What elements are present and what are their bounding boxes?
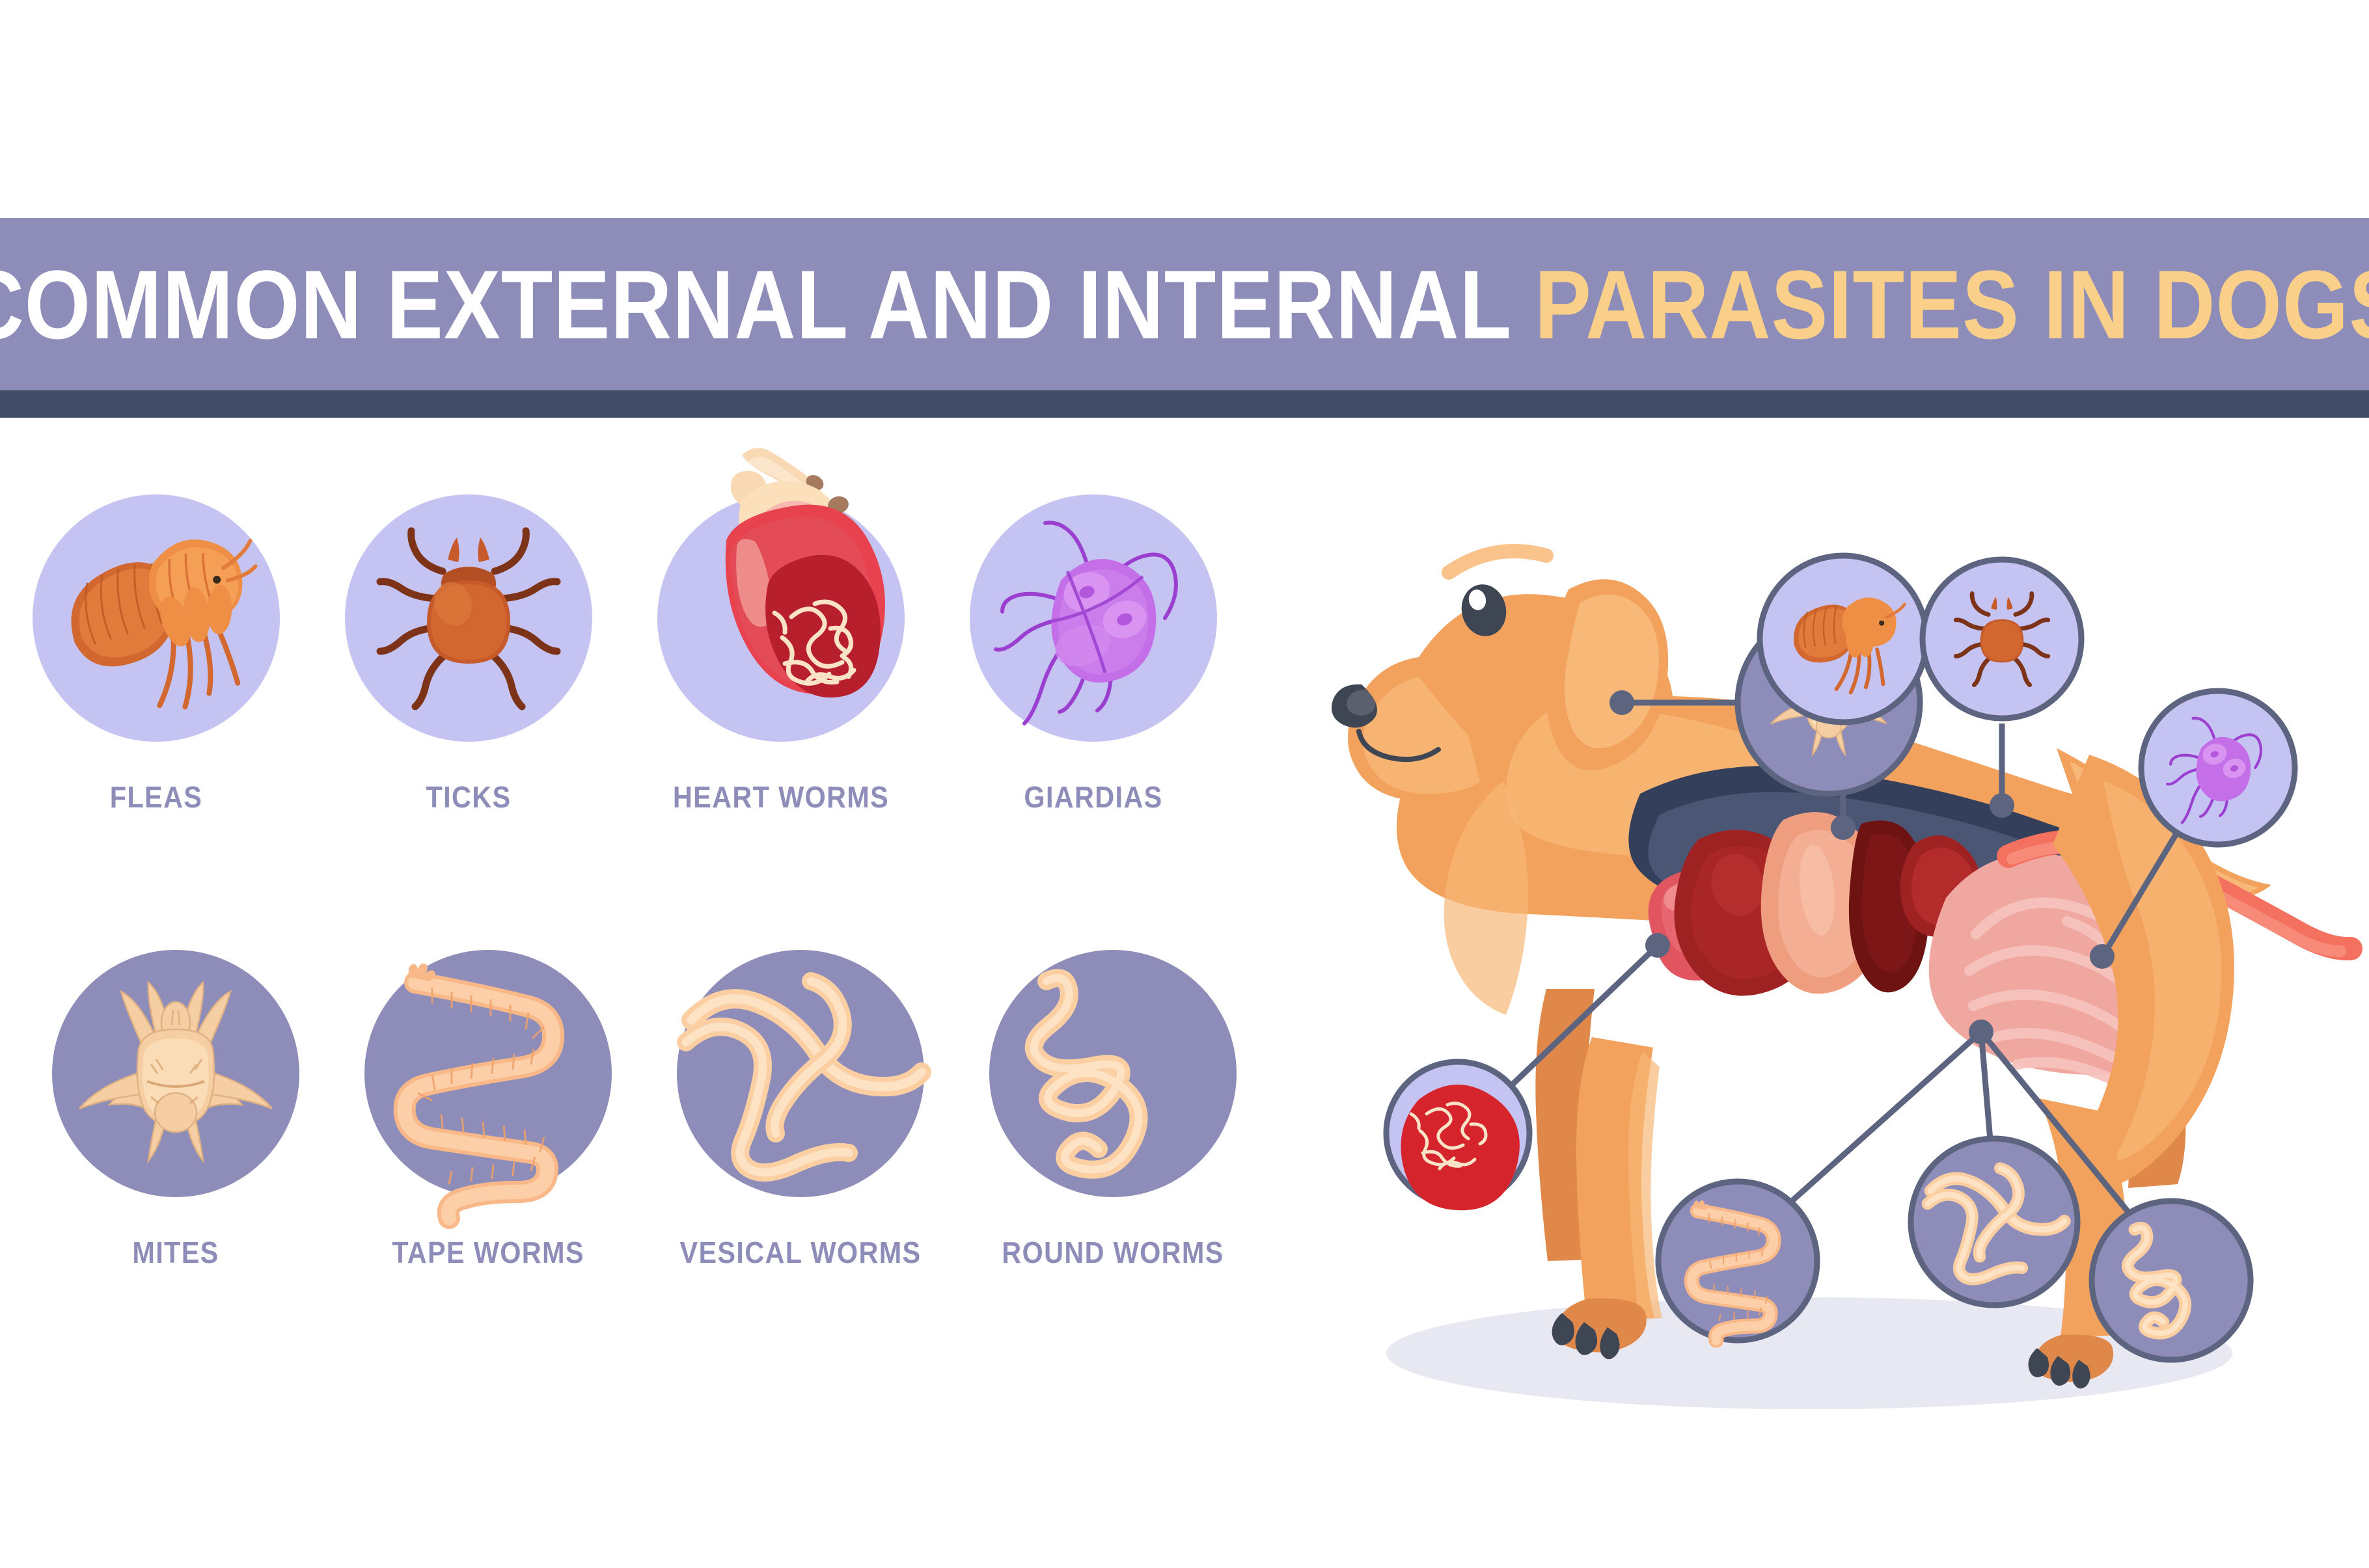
parasite-card-heart-worms[interactable]: HEART WORMS [644,494,918,815]
tapeworm-icon [364,950,612,1197]
vesical-worms-icon-circle [677,950,924,1197]
header-divider-rule [0,390,2369,418]
flea-icon [33,494,280,742]
callout-tape-worms[interactable] [1658,1182,1817,1340]
dog-illustration [1289,442,2369,1418]
vesicalworm-icon [677,950,924,1197]
parasite-label: ROUND WORMS [990,1235,1236,1270]
callout-giardias[interactable] [2141,691,2295,845]
parasite-label: VESICAL WORMS [678,1235,924,1270]
leader-dot-mites [1609,690,1634,715]
page-title-primary: COMMON EXTERNAL AND INTERNAL [0,250,1535,359]
callout-fleas[interactable] [1760,556,1926,722]
mites-icon-circle [52,950,299,1197]
parasite-card-fleas[interactable]: FLEAS [20,494,293,815]
leader-dot-fleas [1831,815,1855,840]
page-title: COMMON EXTERNAL AND INTERNAL PARASITES I… [0,256,2369,353]
giardia-icon [970,494,1217,742]
callout-heart-worms[interactable] [1386,1062,1529,1210]
parasite-card-giardias[interactable]: GIARDIAS [957,494,1230,815]
parasite-grid: FLEAS [0,455,1237,1386]
mite-icon [52,950,299,1197]
heartworm-icon [657,494,905,742]
parasite-label: GIARDIAS [970,779,1216,815]
callout-ticks[interactable] [1923,560,2081,718]
giardias-icon-circle [970,494,1217,742]
heart-worms-icon-circle [657,494,905,742]
parasite-label: TAPE WORMS [365,1235,611,1270]
leader-dot-giardias [2090,944,2115,969]
tick-icon [345,494,592,742]
tape-worms-icon-circle [364,950,612,1197]
round-worms-icon-circle [989,950,1237,1197]
parasite-card-round-worms[interactable]: ROUND WORMS [976,950,1250,1270]
roundworm-icon [989,950,1237,1197]
leader-dot-heartworms [1645,933,1670,958]
header-banner: COMMON EXTERNAL AND INTERNAL PARASITES I… [0,218,2369,390]
leader-dot-ticks [1990,793,2014,818]
callout-round-worms[interactable] [2092,1201,2251,1360]
parasite-label: MITES [53,1235,299,1270]
page-title-accent: PARASITES IN DOGS [1535,250,2369,359]
parasite-label: FLEAS [33,779,279,815]
fleas-icon-circle [33,494,280,742]
parasite-card-vesical-worms[interactable]: VESICAL WORMS [664,950,937,1270]
leader-dot-intestines [1969,1020,1993,1044]
parasite-card-tape-worms[interactable]: TAPE WORMS [351,950,625,1270]
ticks-icon-circle [345,494,592,742]
parasite-card-ticks[interactable]: TICKS [332,494,605,815]
parasite-card-mites[interactable]: MITES [39,950,312,1270]
parasite-label: HEART WORMS [658,779,904,815]
callout-vesical-worms[interactable] [1911,1139,2077,1305]
parasite-label: TICKS [346,779,592,815]
dog-anatomy-diagram [1289,442,2369,1418]
